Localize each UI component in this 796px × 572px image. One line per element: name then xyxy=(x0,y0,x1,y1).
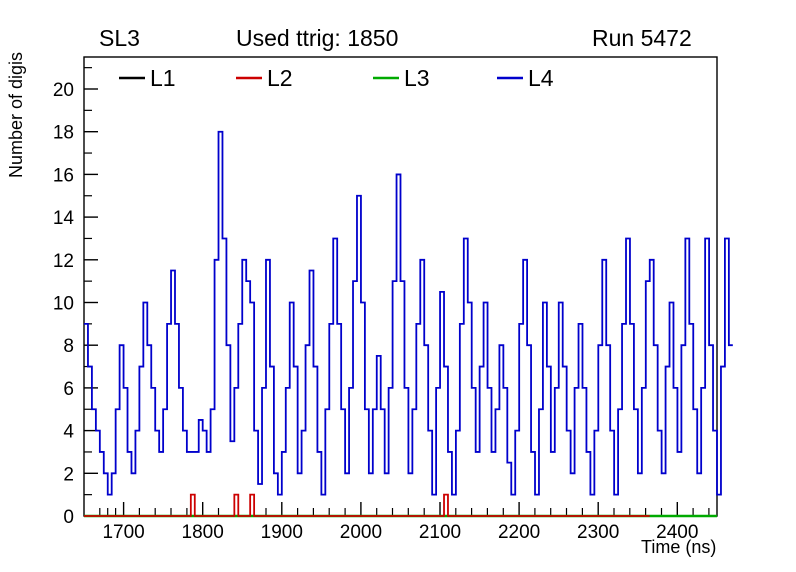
legend-label-L3[interactable]: L3 xyxy=(404,65,430,91)
header-left-label: SL3 xyxy=(99,25,140,51)
y-tick-label-0: 0 xyxy=(63,507,74,528)
x-tick-label-1700: 1700 xyxy=(102,522,144,543)
x-tick-label-1800: 1800 xyxy=(182,522,224,543)
x-tick-label-2400: 2400 xyxy=(656,522,698,543)
y-tick-label-16: 16 xyxy=(53,165,74,186)
y-tick-label-18: 18 xyxy=(53,123,74,144)
y-tick-label-20: 20 xyxy=(53,80,74,101)
y-tick-label-2: 2 xyxy=(63,464,74,485)
header-center-label: Used ttrig: 1850 xyxy=(236,25,398,51)
legend-label-L4[interactable]: L4 xyxy=(528,65,554,91)
y-tick-label-14: 14 xyxy=(53,208,75,229)
chart-canvas: SL3 Used ttrig: 1850 Run 5472 Number of … xyxy=(0,0,796,572)
x-tick-label-2000: 2000 xyxy=(340,522,382,543)
plot-frame xyxy=(84,57,717,516)
y-tick-label-12: 12 xyxy=(53,251,74,272)
x-tick-label-2100: 2100 xyxy=(419,522,461,543)
y-tick-label-8: 8 xyxy=(63,336,74,357)
legend-label-L2[interactable]: L2 xyxy=(267,65,293,91)
x-tick-label-2300: 2300 xyxy=(577,522,619,543)
y-tick-label-10: 10 xyxy=(53,294,74,315)
header-right-label: Run 5472 xyxy=(592,25,692,51)
y-tick-label-6: 6 xyxy=(63,379,74,400)
x-tick-label-2200: 2200 xyxy=(498,522,540,543)
root-plot-svg: SL3 Used ttrig: 1850 Run 5472 Number of … xyxy=(0,0,796,572)
x-tick-label-1900: 1900 xyxy=(261,522,303,543)
y-axis-title: Number of digis xyxy=(6,52,26,178)
legend-label-L1[interactable]: L1 xyxy=(150,65,176,91)
y-tick-label-4: 4 xyxy=(63,422,74,443)
